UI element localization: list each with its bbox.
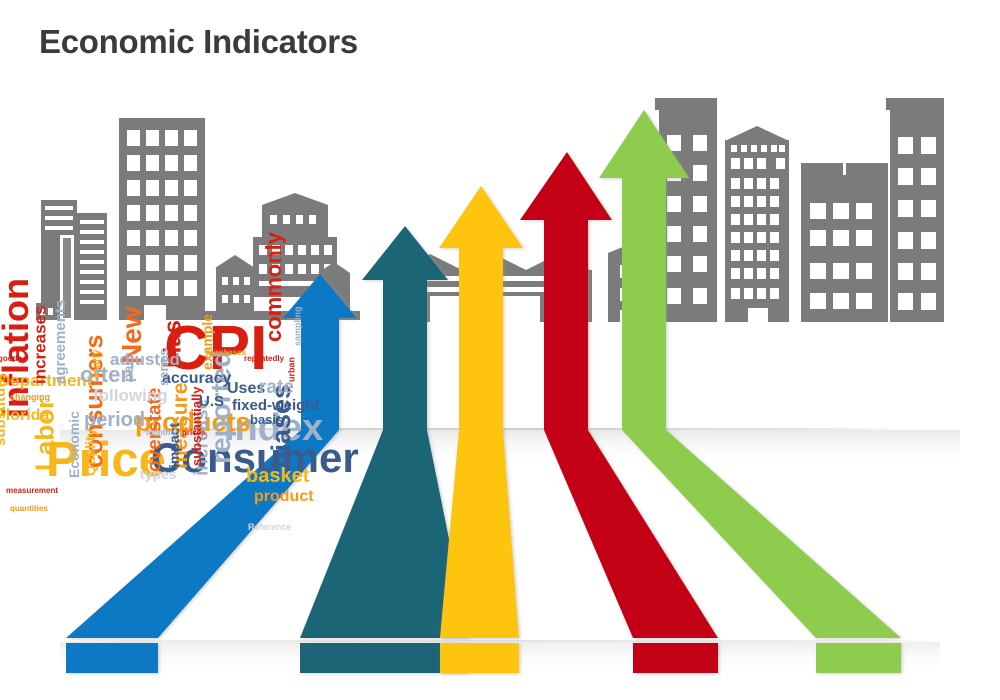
page-title: Economic Indicators: [39, 23, 358, 61]
title-layer: Economic Indicators: [0, 0, 1000, 700]
illustration-canvas: CPIPriceConsumerIndexinflationproductsco…: [0, 0, 1000, 700]
